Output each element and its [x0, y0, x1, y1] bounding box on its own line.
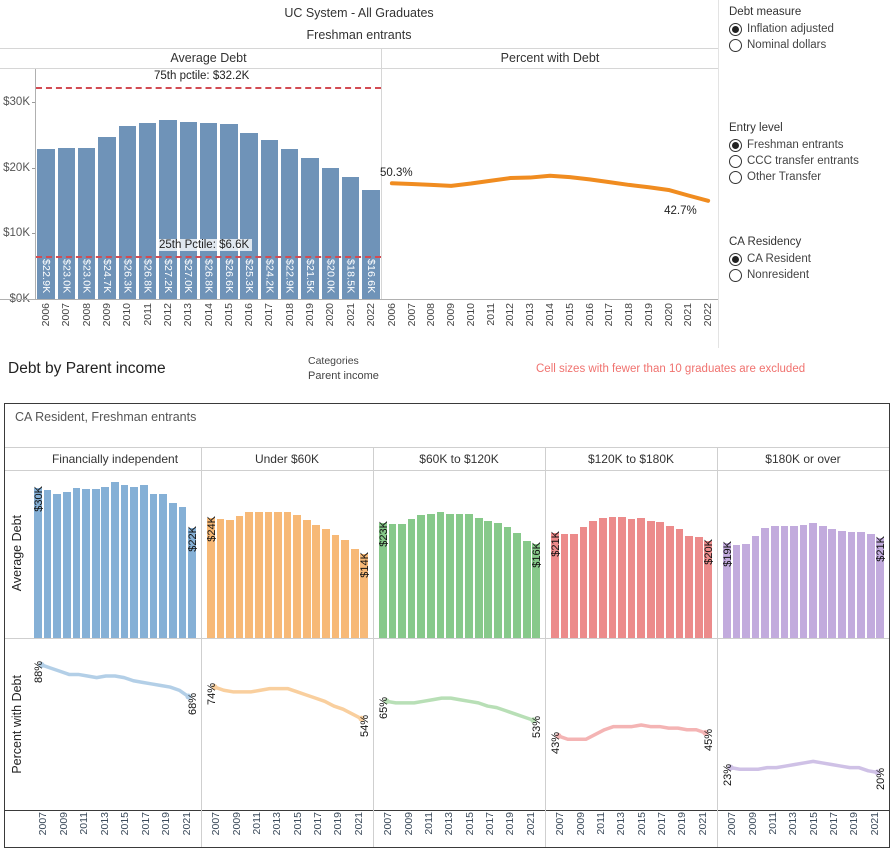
bottom-panel-caption: CA Resident, Freshman entrants [15, 410, 196, 424]
mini-bar-cell[interactable] [225, 473, 235, 638]
mini-bar-cell[interactable] [493, 473, 503, 638]
radio-option-freshman-entrants[interactable]: Freshman entrants [729, 137, 894, 153]
facet-pct-2: 65%53% [373, 638, 545, 810]
facet-pct-1: 74%54% [201, 638, 373, 810]
x-axis-year-tick: 2020 [659, 303, 679, 329]
top-line-series [382, 69, 718, 299]
mini-line-first-label: 23% [722, 764, 734, 786]
mini-bar-cell[interactable] [856, 473, 866, 638]
mini-bar-cell[interactable] [598, 473, 608, 638]
radio-button-icon[interactable] [729, 269, 742, 282]
bar-cell[interactable]: $22.9K [36, 69, 56, 299]
facet-years-1: 20072009201120132015201720192021 [201, 810, 373, 847]
radio-button-icon[interactable] [729, 171, 742, 184]
mini-bar-last-label: $22K [187, 526, 199, 552]
mini-bar[interactable] [599, 518, 607, 638]
mini-bar[interactable] [322, 529, 330, 639]
facet-avg-4: $19K$21K [717, 469, 889, 638]
x-axis-year-tick: 2008 [422, 303, 442, 329]
x-axis-year-tick: 2015 [560, 303, 580, 329]
bar-cell[interactable]: $23.0K [77, 69, 97, 299]
bar-value-label: $23.0K [81, 259, 93, 293]
mini-bar-cell[interactable] [244, 473, 254, 638]
bar-cell[interactable]: $22.9K [280, 69, 300, 299]
radio-option-label: CA Resident [747, 253, 811, 265]
mini-line-svg [29, 638, 201, 810]
mini-bar-cell[interactable] [503, 473, 513, 638]
mini-line-svg [718, 638, 890, 810]
top-dashboard: UC System - All Graduates Freshman entra… [0, 0, 894, 348]
facet-year-tick: 2007 [722, 812, 742, 838]
bar[interactable]: $22.9K [281, 149, 298, 299]
bar[interactable]: $24.2K [261, 140, 278, 299]
bar-cell[interactable]: $27.2K [158, 69, 178, 299]
mini-bar[interactable] [73, 488, 81, 638]
bar-value-label: $21.5K [304, 259, 316, 293]
mini-bar[interactable] [790, 526, 798, 639]
mini-bar-cell[interactable] [397, 473, 407, 638]
mini-bar-cell[interactable] [331, 473, 341, 638]
radio-button-icon[interactable] [729, 253, 742, 266]
bar[interactable]: $16.6K [362, 190, 379, 299]
mini-bar[interactable] [408, 519, 416, 639]
facet-year-tick: 2021 [349, 812, 369, 838]
mini-bar-cell[interactable] [292, 473, 302, 638]
mini-bar[interactable] [742, 544, 750, 639]
mini-bar-cell[interactable] [636, 473, 646, 638]
bar-cell[interactable]: $26.8K [137, 69, 157, 299]
x-axis-year-tick: 2014 [198, 303, 218, 329]
bar[interactable]: $27.0K [180, 122, 197, 299]
x-axis-year-tick: 2015 [219, 303, 239, 329]
mini-bar[interactable] [676, 529, 684, 638]
facet-header-divider [373, 448, 374, 470]
mini-bar[interactable] [226, 520, 234, 639]
mini-bar-cell[interactable] [569, 473, 579, 638]
facet-year-tick: 2015 [460, 812, 480, 838]
x-axis-year-tick: 2016 [239, 303, 259, 329]
mini-bar-series [722, 473, 885, 638]
facet-year-tick: 2013 [439, 812, 459, 838]
mini-bar[interactable] [570, 534, 578, 639]
mini-bar[interactable] [504, 527, 512, 639]
top-charts-area: UC System - All Graduates Freshman entra… [0, 0, 718, 348]
mini-bar[interactable] [437, 512, 445, 638]
mini-bar[interactable] [63, 492, 71, 638]
mini-bar-cell[interactable] [100, 473, 110, 638]
facet-year-ticks: 20072009201120132015201720192021 [206, 812, 369, 838]
mini-bar[interactable] [800, 525, 808, 639]
bar-value-label: $22.9K [40, 259, 52, 293]
mini-bar[interactable] [857, 532, 865, 639]
x-axis-year-tick: 2016 [580, 303, 600, 329]
facet-avg-1: $24K$14K [201, 469, 373, 638]
x-axis-year-tick: 2022 [361, 303, 381, 329]
x-axis-year-tick: 2017 [259, 303, 279, 329]
top-bar-series: $22.9K$23.0K$23.0K$24.7K$26.3K$26.8K$27.… [36, 69, 381, 299]
reference-label-75th: 75th pctile: $32.2K [151, 70, 252, 82]
bar-cell[interactable]: $18.5K [340, 69, 360, 299]
mini-line-last-label: 68% [187, 693, 199, 715]
mini-bar-cell[interactable] [837, 473, 847, 638]
facet-year-tick: 2013 [267, 812, 287, 838]
mini-bar-cell[interactable] [340, 473, 350, 638]
mini-bar[interactable] [274, 512, 282, 638]
mini-line-last-label: 45% [703, 729, 715, 751]
mini-bar[interactable] [523, 541, 531, 639]
dashboard-title-line1: UC System - All Graduates [0, 6, 718, 20]
mini-bar[interactable] [92, 489, 100, 639]
mini-bar-cell[interactable] [445, 473, 455, 638]
mini-bar-cell[interactable] [436, 473, 446, 638]
mini-bar[interactable] [848, 532, 856, 638]
middle-header: Debt by Parent income Categories Parent … [0, 355, 894, 397]
x-axis-year-tick: 2006 [382, 303, 402, 329]
mini-bar-cell[interactable] [178, 473, 188, 638]
bar[interactable]: $20.0K [322, 168, 339, 299]
mini-bar[interactable] [236, 516, 244, 638]
bar-value-label: $18.5K [345, 259, 357, 293]
mini-bar-cell[interactable] [264, 473, 274, 638]
mini-bar-cell[interactable] [484, 473, 494, 638]
mini-bar[interactable] [809, 523, 817, 639]
mini-bar[interactable] [618, 517, 626, 638]
mini-bar-cell[interactable] [579, 473, 589, 638]
bar-cell[interactable]: $23.0K [56, 69, 76, 299]
mini-bar[interactable] [446, 514, 454, 639]
control-group-title: Entry level [729, 122, 894, 134]
categories-value[interactable]: Parent income [308, 370, 379, 382]
mini-bar[interactable] [101, 487, 109, 639]
bar-cell[interactable]: $27.0K [178, 69, 198, 299]
mini-bar[interactable] [494, 523, 502, 638]
mini-bar-cell[interactable] [799, 473, 809, 638]
x-axis-year-tick: 2013 [178, 303, 198, 329]
mini-bar-cell[interactable] [588, 473, 598, 638]
mini-bar-cell[interactable] [751, 473, 761, 638]
mini-bar-cell[interactable] [187, 473, 197, 638]
mini-bar-cell[interactable] [474, 473, 484, 638]
mini-bar-cell[interactable] [254, 473, 264, 638]
x-axis-year-tick: 2021 [678, 303, 698, 329]
bar-value-label: $22.9K [284, 259, 296, 293]
facet-year-tick: 2009 [54, 812, 75, 838]
row-label-average-debt-text: Average Debt [10, 515, 24, 591]
mini-bar[interactable] [838, 531, 846, 638]
average-debt-bar-chart: $22.9K$23.0K$23.0K$24.7K$26.3K$26.8K$27.… [36, 69, 381, 299]
facet-year-tick: 2009 [226, 812, 246, 838]
radio-option-ca-resident[interactable]: CA Resident [729, 251, 894, 267]
facet-year-tick: 2011 [419, 812, 439, 838]
mini-bar-cell[interactable] [789, 473, 799, 638]
radio-option-nonresident[interactable]: Nonresident [729, 267, 894, 283]
mini-bar[interactable] [781, 526, 789, 639]
bar-cell[interactable]: $21.5K [300, 69, 320, 299]
mini-bar-cell[interactable] [388, 473, 398, 638]
radio-option-ccc-transfer-entrants[interactable]: CCC transfer entrants [729, 153, 894, 169]
mini-bar-cell[interactable] [81, 473, 91, 638]
x-axis-year-tick: 2006 [36, 303, 56, 329]
mini-bar-cell[interactable] [206, 473, 216, 638]
bar[interactable]: $26.8K [139, 123, 156, 299]
x-axis-year-tick: 2021 [340, 303, 360, 329]
facet-year-tick: 2017 [480, 812, 500, 838]
bar-value-label: $24.2K [263, 259, 275, 293]
mini-bar-cell[interactable] [168, 473, 178, 638]
mini-bar[interactable] [609, 517, 617, 638]
facet-year-tick: 2019 [844, 812, 864, 838]
bar-cell[interactable]: $26.8K [198, 69, 218, 299]
mini-bar[interactable] [828, 529, 836, 639]
mini-bar[interactable] [150, 494, 158, 639]
bar[interactable]: $25.3K [240, 133, 257, 299]
mini-bar[interactable] [417, 515, 425, 639]
facet-year-tick: 2017 [308, 812, 328, 838]
bar-cell[interactable]: $20.0K [320, 69, 340, 299]
bar[interactable]: $22.9K [37, 149, 54, 299]
mini-bar-cell[interactable] [129, 473, 139, 638]
mini-bar[interactable] [427, 514, 435, 639]
mini-bar[interactable] [819, 526, 827, 639]
mini-bar-series [378, 473, 541, 638]
mini-bar[interactable] [465, 514, 473, 638]
facet-year-tick: 2013 [611, 812, 631, 838]
mini-bar-cell[interactable] [52, 473, 62, 638]
bar-cell[interactable]: $16.6K [361, 69, 381, 299]
mini-bar-cell[interactable] [91, 473, 101, 638]
mini-bar[interactable] [293, 515, 301, 639]
mini-bar[interactable] [685, 536, 693, 638]
row-label-average-debt: Average Debt [7, 469, 27, 638]
facet-year-ticks: 20072009201120132015201720192021 [722, 812, 885, 838]
mini-bar[interactable] [771, 526, 779, 639]
mini-bar[interactable] [82, 489, 90, 639]
bar-cell[interactable]: $26.3K [117, 69, 137, 299]
mini-bar[interactable] [475, 518, 483, 638]
radio-button-icon[interactable] [729, 39, 742, 52]
mini-bar[interactable] [245, 512, 253, 639]
mini-bar[interactable] [332, 535, 340, 639]
mini-bar[interactable] [169, 503, 177, 639]
x-axis-year-tick: 2009 [441, 303, 461, 329]
bar-cell[interactable]: $26.6K [219, 69, 239, 299]
mini-bar-cell[interactable] [760, 473, 770, 638]
radio-option-nominal-dollars[interactable]: Nominal dollars [729, 37, 894, 53]
mini-bar[interactable] [580, 527, 588, 638]
mini-bar-cell[interactable] [426, 473, 436, 638]
bar[interactable]: $26.3K [119, 126, 136, 299]
mini-bar-cell[interactable] [72, 473, 82, 638]
mini-bar[interactable] [312, 525, 320, 638]
x-axis-year-tick: 2018 [280, 303, 300, 329]
mini-bar-cell[interactable] [110, 473, 120, 638]
average-debt-x-axis-years: 2006200720082009201020112012201320142015… [36, 303, 381, 329]
mini-bar[interactable] [628, 519, 636, 638]
facet-year-tick: 2011 [591, 812, 611, 838]
dashboard-subtitle-line2: Freshman entrants [0, 28, 718, 42]
mini-bar[interactable] [53, 494, 61, 638]
average-debt-y-axis: $0K$10K$20K$30K [0, 69, 36, 299]
mini-bar-cell[interactable] [818, 473, 828, 638]
mini-bar-cell[interactable] [464, 473, 474, 638]
radio-option-inflation-adjusted[interactable]: Inflation adjusted [729, 21, 894, 37]
bar[interactable]: $26.6K [220, 124, 237, 299]
mini-bar[interactable] [695, 537, 703, 638]
bar[interactable]: $26.8K [200, 123, 217, 299]
bar-cell[interactable]: $25.3K [239, 69, 259, 299]
mini-bar-cell[interactable] [770, 473, 780, 638]
mini-bar-cell[interactable] [158, 473, 168, 638]
mini-bar-cell[interactable] [283, 473, 293, 638]
mini-bar-cell[interactable] [847, 473, 857, 638]
mini-bar[interactable] [656, 522, 664, 638]
y-tick-label: $10K [3, 227, 30, 239]
mini-bar[interactable] [130, 487, 138, 638]
bar[interactable]: $23.0K [58, 148, 75, 299]
control-group-debt-measure: Debt measureInflation adjustedNominal do… [729, 6, 894, 53]
mini-bar[interactable] [179, 507, 187, 639]
mini-bar-cell[interactable] [617, 473, 627, 638]
percent-line-svg [382, 69, 718, 299]
mini-bar[interactable] [111, 482, 119, 639]
mini-bar-cell[interactable] [512, 473, 522, 638]
mini-line-first-label: 65% [378, 697, 390, 719]
facet-year-ticks: 20072009201120132015201720192021 [378, 812, 541, 838]
mini-bar-last-label: $16K [531, 542, 543, 568]
x-axis-year-tick: 2012 [158, 303, 178, 329]
mini-bar[interactable] [761, 528, 769, 639]
facet-year-tick: 2007 [378, 812, 398, 838]
facet-row-percent-with-debt: Percent with Debt 88%68%74%54%65%53%43%4… [5, 638, 889, 811]
facet-year-tick: 2013 [95, 812, 116, 838]
mini-bar[interactable] [398, 524, 406, 638]
mini-bar-cell[interactable] [120, 473, 130, 638]
bar[interactable]: $18.5K [342, 177, 359, 299]
mini-bar[interactable] [140, 485, 148, 638]
mini-bar-cell[interactable] [407, 473, 417, 638]
bar-value-label: $26.8K [203, 259, 215, 293]
bar-value-label: $23.0K [60, 259, 72, 293]
bar[interactable]: $27.2K [159, 120, 176, 299]
x-axis-year-tick: 2017 [599, 303, 619, 329]
mini-bar[interactable] [265, 512, 273, 639]
facet-header-divider [717, 448, 718, 470]
mini-bar[interactable] [351, 549, 359, 638]
mini-bar-first-label: $23K [378, 521, 390, 547]
bar[interactable]: $23.0K [78, 148, 95, 299]
x-axis-year-tick: 2020 [320, 303, 340, 329]
mini-bar[interactable] [284, 512, 292, 638]
mini-bar-last-label: $21K [875, 536, 887, 562]
mini-bar[interactable] [484, 521, 492, 639]
mini-bar[interactable] [456, 514, 464, 639]
bar-value-label: $27.0K [182, 259, 194, 293]
mini-bar-last-label: $14K [359, 552, 371, 578]
mini-bar-cell[interactable] [646, 473, 656, 638]
mini-bar-cell[interactable] [656, 473, 666, 638]
radio-button-icon[interactable] [729, 23, 742, 36]
bar-cell[interactable]: $24.7K [97, 69, 117, 299]
mini-line-svg [546, 638, 718, 810]
mini-bar-cell[interactable] [627, 473, 637, 638]
mini-bar[interactable] [44, 490, 52, 638]
mini-bar-cell[interactable] [608, 473, 618, 638]
facet-year-ticks: 20072009201120132015201720192021 [550, 812, 713, 838]
radio-option-label: CCC transfer entrants [747, 155, 859, 167]
mini-bar-cell[interactable] [273, 473, 283, 638]
mini-bar[interactable] [255, 512, 263, 638]
mini-bar-cell[interactable] [149, 473, 159, 638]
facet-year-tick: 2021 [177, 812, 198, 838]
panel-header-percent-with-debt: Percent with Debt [382, 48, 718, 68]
radio-button-icon[interactable] [729, 139, 742, 152]
mini-bar[interactable] [752, 536, 760, 638]
mini-bar[interactable] [303, 520, 311, 638]
mini-bar-cell[interactable] [684, 473, 694, 638]
mini-bar[interactable] [121, 485, 129, 639]
radio-button-icon[interactable] [729, 155, 742, 168]
mini-bar[interactable] [867, 534, 875, 639]
facet-year-tick: 2007 [206, 812, 226, 838]
facet-pct-0: 88%68% [29, 638, 201, 810]
row-label-percent-with-debt-text: Percent with Debt [10, 675, 24, 774]
mini-bar-cell[interactable] [235, 473, 245, 638]
mini-bar-cell[interactable] [216, 473, 226, 638]
facet-year-tick: 2007 [33, 812, 54, 838]
mini-bar-cell[interactable] [62, 473, 72, 638]
x-axis-year-tick: 2011 [137, 303, 157, 329]
y-tick-label: $20K [3, 162, 30, 174]
bar-cell[interactable]: $24.2K [259, 69, 279, 299]
facet-year-tick: 2009 [398, 812, 418, 838]
mini-bar-cell[interactable] [302, 473, 312, 638]
mini-bar-cell[interactable] [808, 473, 818, 638]
radio-option-label: Nonresident [747, 269, 809, 281]
reference-line-25th [36, 256, 381, 258]
x-axis-year-tick: 2019 [300, 303, 320, 329]
mini-bar[interactable] [159, 494, 167, 639]
mini-bar-cell[interactable] [741, 473, 751, 638]
mini-bar-cell[interactable] [675, 473, 685, 638]
facet-pct-4: 23%20% [717, 638, 889, 810]
bottom-panel: CA Resident, Freshman entrants Financial… [4, 403, 890, 848]
bar[interactable]: $24.7K [98, 137, 115, 299]
mini-bar-cell[interactable] [378, 473, 388, 638]
mini-bar[interactable] [341, 540, 349, 639]
mini-bar-cell[interactable] [780, 473, 790, 638]
mini-bar[interactable] [637, 518, 645, 639]
x-axis-year-tick: 2014 [540, 303, 560, 329]
mini-bar-cell[interactable] [455, 473, 465, 638]
mini-bar-cell[interactable] [321, 473, 331, 638]
mini-bar-cell[interactable] [416, 473, 426, 638]
mini-bar-first-label: $19K [722, 541, 734, 567]
mini-bar[interactable] [513, 533, 521, 639]
mini-bar-cell[interactable] [828, 473, 838, 638]
mini-bar[interactable] [647, 521, 655, 638]
pct-start-label: 50.3% [380, 167, 413, 179]
mini-bar[interactable] [589, 521, 597, 639]
x-axis-year-tick: 2010 [461, 303, 481, 329]
mini-bar-cell[interactable] [312, 473, 322, 638]
facet-header: $120K to $180K [545, 448, 717, 470]
mini-bar-cell[interactable] [139, 473, 149, 638]
mini-bar[interactable] [666, 526, 674, 639]
facet-year-tick: 2019 [328, 812, 348, 838]
mini-bar-cell[interactable] [665, 473, 675, 638]
radio-option-other-transfer[interactable]: Other Transfer [729, 169, 894, 185]
bar[interactable]: $21.5K [301, 158, 318, 299]
